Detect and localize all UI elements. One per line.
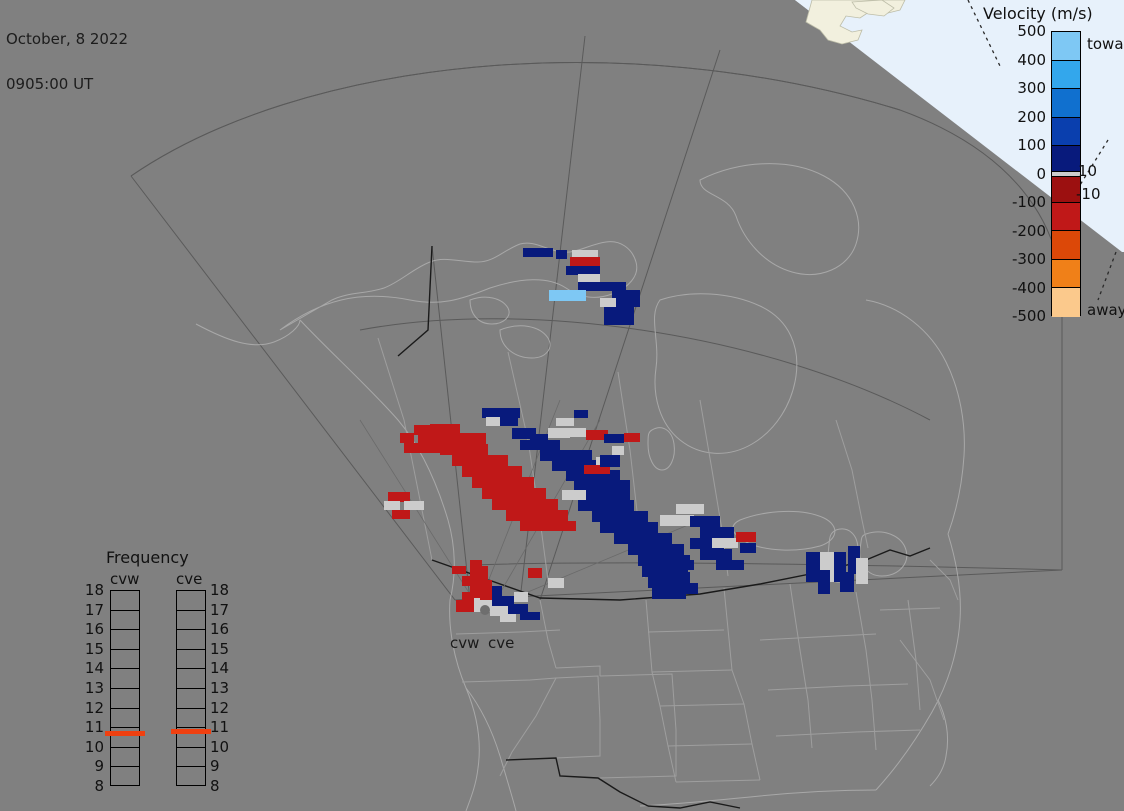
frequency-bar-segment — [177, 767, 205, 787]
velocity-cell — [600, 522, 658, 533]
velocity-cell — [486, 417, 500, 426]
frequency-bar-segment — [111, 748, 139, 768]
colorbar-segment — [1052, 118, 1080, 147]
velocity-colorbar: Velocity (m/s) 5004003002001000-100-200-… — [975, 0, 1124, 340]
frequency-tick-right: 14 — [210, 659, 232, 677]
frequency-column-label-cvw: cvw — [110, 570, 139, 588]
velocity-cell — [628, 544, 684, 555]
colorbar-segment — [1052, 89, 1080, 118]
frequency-tick-left: 8 — [82, 777, 104, 795]
velocity-cell — [600, 298, 616, 307]
velocity-cell — [480, 580, 492, 600]
velocity-cell — [400, 433, 414, 443]
border-mw-horiz-3 — [776, 730, 920, 736]
border-usa-mexico — [506, 758, 648, 806]
frequency-marker-cve — [171, 729, 211, 734]
border-id-mt — [540, 600, 556, 668]
colorbar-segment — [1052, 260, 1080, 289]
frequency-tick-right: 16 — [210, 620, 232, 638]
velocity-cell — [562, 490, 586, 500]
colorbar-gradient — [1051, 31, 1081, 316]
border-mw-vertical-1 — [790, 584, 812, 748]
map-frame-edge-bottom — [455, 570, 1062, 600]
frequency-bar-segment — [111, 650, 139, 670]
border-nv-ut — [556, 676, 600, 720]
parallel-arc-2 — [470, 563, 1062, 570]
frequency-bar-cve — [176, 590, 206, 786]
colorbar-segment — [1052, 231, 1080, 260]
colorbar-threshold-lower-label: -10 — [1076, 185, 1101, 203]
border-sd-ne — [652, 670, 732, 672]
velocity-cell — [856, 558, 868, 584]
map-frame-edge-left — [131, 176, 455, 600]
frequency-tick-right: 15 — [210, 640, 232, 658]
colorbar-segment — [1052, 203, 1080, 232]
velocity-cell — [549, 290, 586, 301]
radar-origin-marker — [480, 605, 490, 615]
frequency-legend-title: Frequency — [106, 548, 189, 567]
border-usa-canada-east — [866, 548, 930, 560]
frequency-tick-right: 9 — [210, 757, 232, 775]
velocity-cell — [456, 600, 474, 612]
coast-baffin — [700, 164, 859, 275]
frequency-tick-left: 10 — [82, 738, 104, 756]
border-ks-ok — [668, 744, 752, 746]
colorbar-segment — [1052, 146, 1080, 172]
colorbar-toward-label: toward — [1087, 35, 1124, 53]
velocity-cell — [740, 543, 756, 553]
map-frame-arc-left — [131, 63, 900, 176]
frequency-tick-left: 9 — [82, 757, 104, 775]
velocity-cell — [442, 433, 486, 444]
frequency-tick-left: 14 — [82, 659, 104, 677]
velocity-cell — [556, 250, 567, 259]
coast-hudson-bay — [655, 294, 797, 454]
timestamp: October, 8 2022 0905:00 UT — [6, 2, 128, 122]
border-mw-horiz-2 — [768, 684, 908, 690]
colorbar-tick: 200 — [984, 108, 1046, 126]
frequency-bar-segment — [177, 630, 205, 650]
colorbar-tick: 500 — [984, 22, 1046, 40]
velocity-cell — [574, 410, 588, 418]
velocity-cell — [616, 298, 640, 307]
coast-east-canada — [866, 300, 964, 534]
velocity-cell — [574, 480, 630, 491]
border-mw-vertical-2 — [856, 592, 876, 750]
velocity-cell — [700, 549, 732, 560]
frequency-marker-cvw — [105, 731, 145, 736]
meridian-3 — [432, 246, 470, 600]
colorbar-away-label: away — [1087, 301, 1124, 319]
frequency-tick-right: 10 — [210, 738, 232, 756]
frequency-tick-left: 17 — [82, 601, 104, 619]
frequency-tick-right: 11 — [210, 718, 232, 736]
frequency-bar-segment — [111, 689, 139, 709]
velocity-cell — [578, 282, 602, 291]
border-ok-tx — [676, 780, 760, 782]
frequency-legend: Frequency cvw cve 18171615141312111098 1… — [88, 548, 238, 788]
velocity-cell — [700, 527, 734, 538]
timestamp-date: October, 8 2022 — [6, 32, 128, 47]
colorbar-tick: 400 — [984, 51, 1046, 69]
border-plains-vertical-2 — [724, 588, 760, 780]
velocity-cell — [660, 572, 690, 583]
velocity-cell — [592, 511, 648, 522]
velocity-cell — [388, 492, 410, 502]
coast-atlantic-us — [876, 534, 960, 790]
border-plains-vertical-1 — [646, 600, 676, 782]
velocity-cell — [430, 424, 460, 434]
frequency-bar-segment — [177, 650, 205, 670]
velocity-cell — [612, 290, 640, 299]
velocity-cell — [586, 490, 630, 500]
border-east-horiz-1 — [880, 608, 940, 610]
velocity-cell — [520, 612, 540, 620]
coast-florida-inlet — [930, 700, 948, 786]
frequency-tick-right: 12 — [210, 699, 232, 717]
frequency-tick-right: 17 — [210, 601, 232, 619]
frequency-bar-segment — [111, 669, 139, 689]
velocity-cell — [520, 521, 576, 531]
velocity-cell — [604, 434, 624, 443]
velocity-cell — [614, 533, 672, 544]
velocity-cell — [670, 583, 698, 594]
frequency-tick-left: 11 — [82, 718, 104, 736]
frequency-tick-left: 18 — [82, 581, 104, 599]
velocity-cell — [818, 570, 830, 594]
colorbar-tick: 300 — [984, 79, 1046, 97]
velocity-cell — [482, 408, 520, 418]
velocity-cell — [540, 450, 592, 461]
frequency-tick-right: 13 — [210, 679, 232, 697]
frequency-bar-segment — [111, 709, 139, 729]
colorbar-tick: -200 — [984, 222, 1046, 240]
coast-gulf — [640, 790, 876, 806]
velocity-cell — [384, 501, 400, 510]
frequency-tick-left: 13 — [82, 679, 104, 697]
velocity-cell — [500, 614, 516, 622]
border-mw-horiz-1 — [760, 634, 876, 640]
colorbar-tick: -300 — [984, 250, 1046, 268]
frequency-bar-segment — [177, 748, 205, 768]
velocity-cell — [482, 488, 546, 499]
border-or-ca — [462, 678, 556, 682]
coast-great-bear-lake — [470, 297, 509, 324]
velocity-cell — [548, 428, 570, 438]
velocity-cell — [604, 307, 634, 325]
velocity-cell — [570, 428, 586, 437]
border-nd-sd — [648, 630, 724, 632]
colorbar-tick: 0 — [984, 165, 1046, 183]
frequency-tick-left: 12 — [82, 699, 104, 717]
colorbar-tick: -100 — [984, 193, 1046, 211]
border-co-nm — [600, 730, 676, 778]
frequency-tick-right: 18 — [210, 581, 232, 599]
coast-winnipeg — [648, 428, 674, 470]
frequency-bar-segment — [111, 630, 139, 650]
frequency-bar-segment — [177, 591, 205, 611]
velocity-cell — [492, 499, 558, 510]
velocity-cell — [660, 515, 694, 526]
velocity-cell — [624, 433, 640, 442]
frequency-tick-left: 16 — [82, 620, 104, 638]
velocity-cell — [440, 444, 488, 455]
velocity-cell — [452, 455, 508, 466]
velocity-cell — [690, 516, 720, 527]
velocity-cell — [716, 560, 744, 570]
border-ut-az — [556, 720, 600, 758]
frequency-column-label-cve: cve — [176, 570, 202, 588]
velocity-cell — [612, 446, 624, 455]
frequency-tick-right: 8 — [210, 777, 232, 795]
frequency-bar-segment — [111, 611, 139, 631]
velocity-cell — [404, 501, 424, 510]
border-mt-wy — [556, 666, 600, 676]
velocity-cell — [600, 282, 626, 291]
velocity-cell — [840, 572, 854, 592]
velocity-cell — [452, 566, 466, 574]
velocity-cell — [578, 500, 634, 511]
frequency-bar-segment — [177, 669, 205, 689]
border-ne-states — [930, 560, 958, 600]
border-ne-ks — [660, 704, 744, 706]
colorbar-tick: -400 — [984, 279, 1046, 297]
frequency-bar-segment — [177, 611, 205, 631]
velocity-cell — [500, 417, 518, 426]
colorbar-segment — [1052, 32, 1080, 61]
border-east-vertical-1 — [908, 600, 920, 710]
velocity-cell — [523, 248, 553, 257]
colorbar-tick: 100 — [984, 136, 1046, 154]
frequency-bar-segment — [111, 767, 139, 787]
velocity-cell — [712, 538, 738, 548]
velocity-cell — [578, 274, 600, 283]
coast-great-slave-lake — [500, 326, 550, 358]
colorbar-segment — [1052, 288, 1080, 317]
border-wy-co — [600, 674, 676, 730]
colorbar-title: Velocity (m/s) — [983, 4, 1093, 23]
velocity-cell — [528, 568, 542, 578]
colorbar-segment — [1052, 61, 1080, 90]
velocity-cell — [556, 418, 574, 426]
border-appalachia — [900, 640, 944, 720]
colorbar-threshold-upper-label: 10 — [1078, 162, 1097, 180]
frequency-bar-segment — [177, 709, 205, 729]
velocity-cell — [736, 532, 756, 542]
coast-california — [450, 600, 480, 811]
frequency-bar-cvw — [110, 590, 140, 786]
velocity-cell — [600, 455, 620, 467]
radar-velocity-map: October, 8 2022 0905:00 UT cvw cve Veloc… — [0, 0, 1124, 811]
velocity-cell — [392, 510, 410, 519]
coast-alaska-panhandle — [196, 320, 300, 345]
frequency-bar-segment — [177, 689, 205, 709]
site-label-cvw: cvw — [450, 634, 479, 652]
velocity-cell — [514, 592, 528, 602]
velocity-cell — [806, 552, 820, 582]
velocity-cell — [676, 504, 704, 514]
coast-baja — [466, 688, 516, 811]
velocity-cell — [548, 578, 564, 588]
velocity-data-cells — [384, 248, 868, 622]
frequency-tick-left: 15 — [82, 640, 104, 658]
frequency-bar-segment — [111, 591, 139, 611]
border-ca-nv — [500, 678, 556, 776]
velocity-cell — [506, 510, 568, 521]
timestamp-time: 0905:00 UT — [6, 77, 128, 92]
velocity-cell — [570, 257, 600, 267]
colorbar-tick: -500 — [984, 307, 1046, 325]
velocity-cell — [670, 560, 694, 570]
site-label-cve: cve — [488, 634, 514, 652]
velocity-cell — [462, 466, 522, 477]
velocity-cell — [472, 477, 534, 488]
velocity-cell — [520, 440, 560, 450]
velocity-cell — [566, 266, 600, 275]
